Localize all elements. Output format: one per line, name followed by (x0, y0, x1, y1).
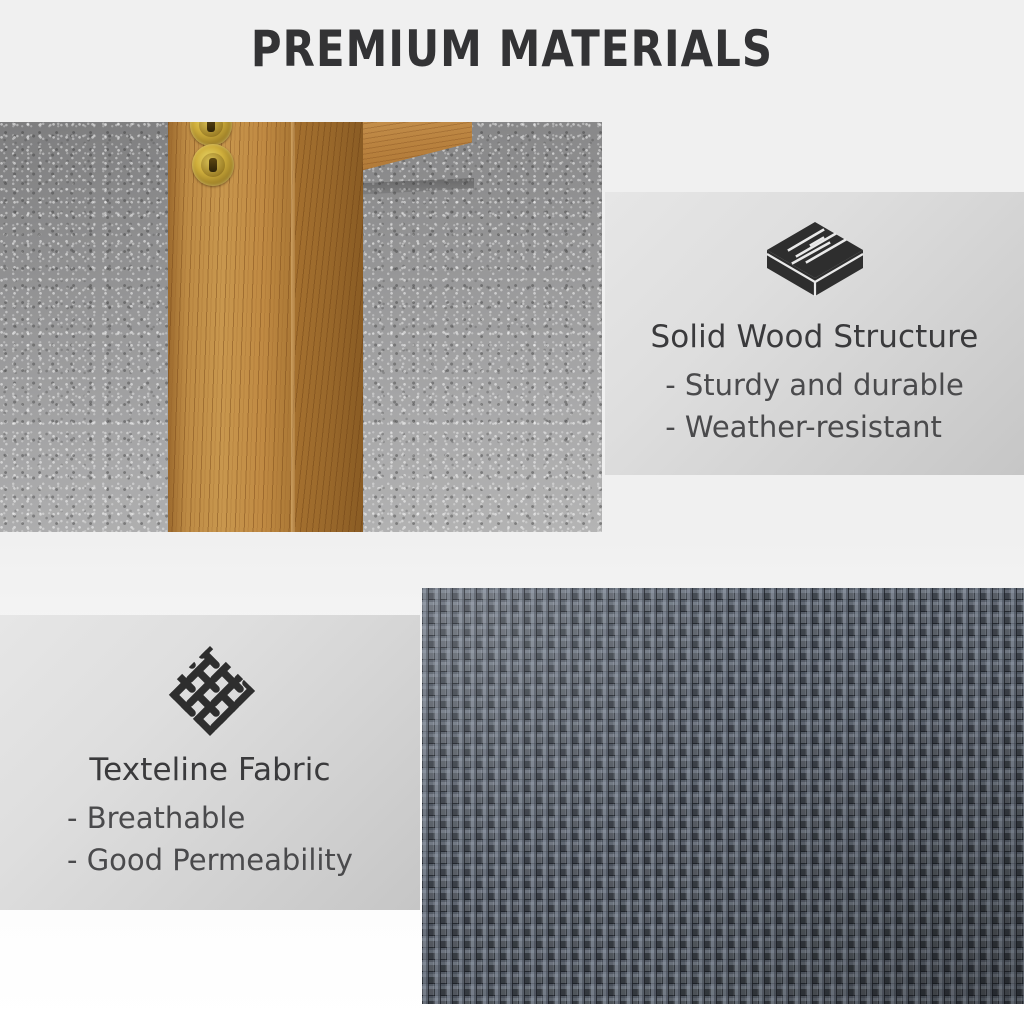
feature-bullets-texteline-fabric: - Breathable - Good Permeability (67, 797, 353, 881)
feature-bullet: - Weather-resistant (665, 406, 964, 448)
feature-heading-solid-wood: Solid Wood Structure (651, 318, 979, 357)
page-title: PREMIUM MATERIALS (36, 22, 988, 77)
wood-plank-icon (763, 216, 867, 302)
feature-bullet: - Good Permeability (67, 839, 353, 881)
feature-bullet: - Sturdy and durable (665, 364, 964, 406)
feature-bullet: - Breathable (67, 797, 353, 839)
wood-leg-side-face (295, 122, 363, 532)
feature-card-solid-wood: Solid Wood Structure - Sturdy and durabl… (605, 192, 1024, 475)
textilene-fabric-photo (422, 588, 1024, 1004)
feature-heading-texteline-fabric: Texteline Fabric (89, 751, 330, 790)
fabric-weave-texture (422, 588, 1024, 1004)
woven-fabric-icon (164, 645, 256, 737)
feature-card-texteline-fabric: Texteline Fabric - Breathable - Good Per… (0, 615, 420, 910)
feature-bullets-solid-wood: - Sturdy and durable - Weather-resistant (665, 364, 964, 448)
wood-leg-photo (0, 122, 602, 532)
brass-bolt-icon (192, 144, 234, 186)
wood-leg-front-face (168, 122, 296, 532)
